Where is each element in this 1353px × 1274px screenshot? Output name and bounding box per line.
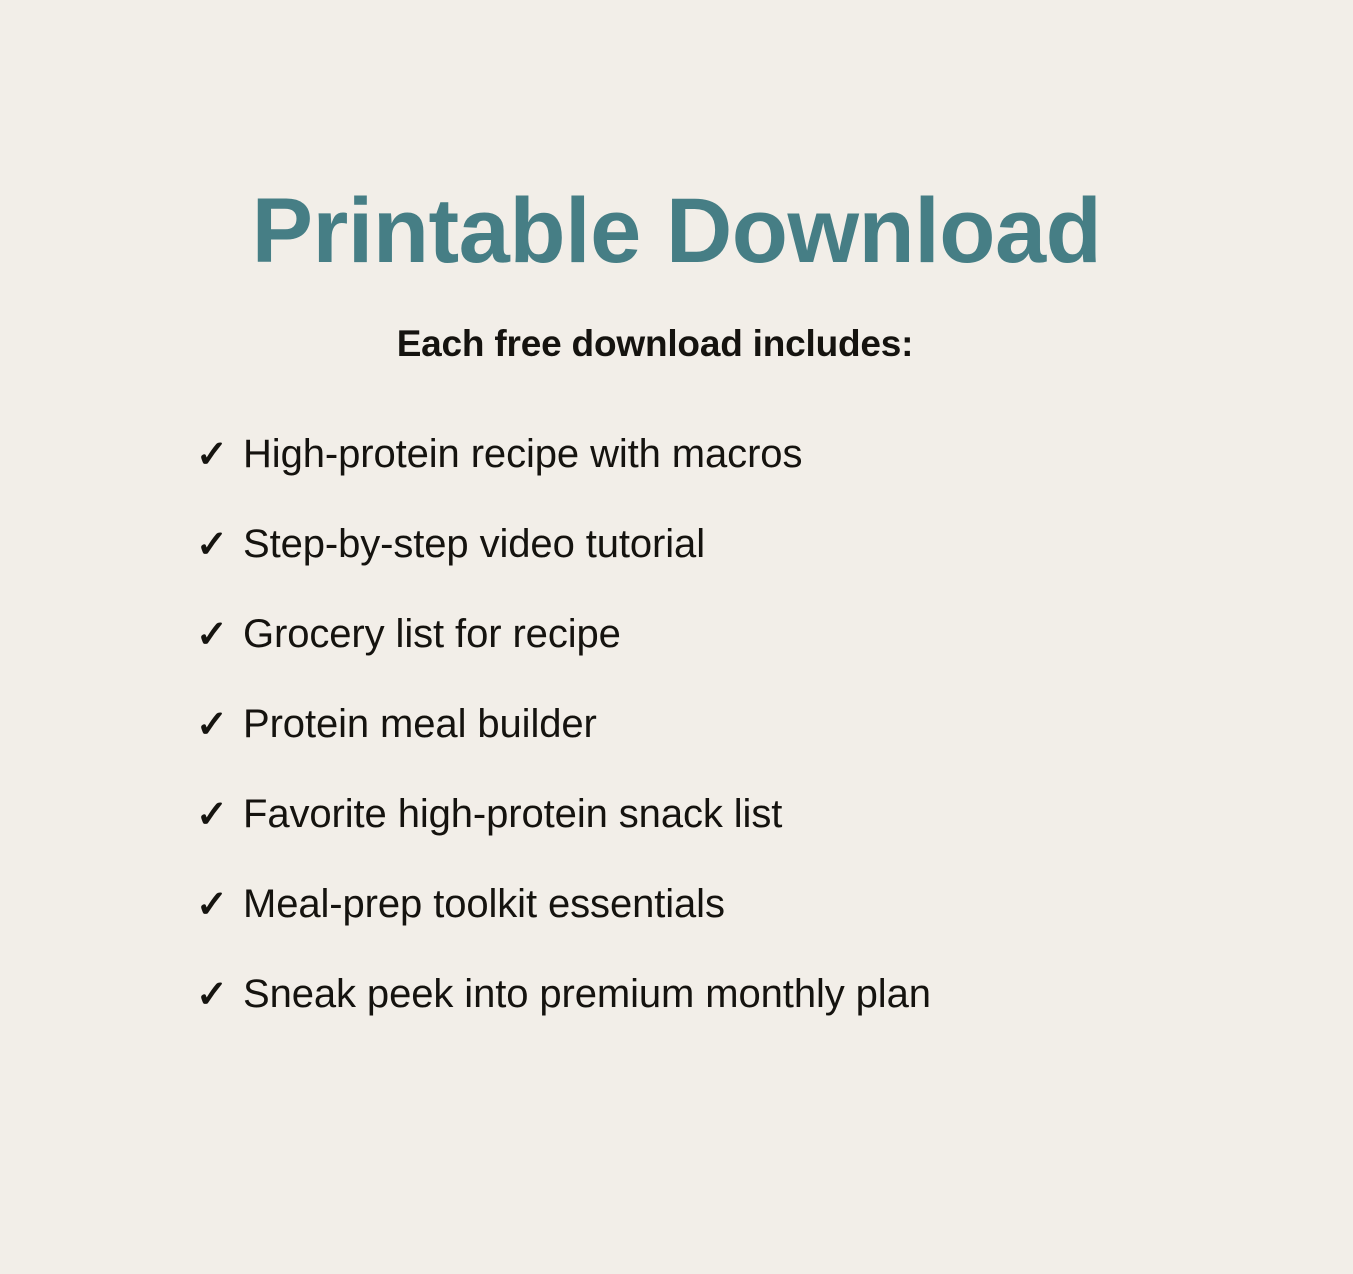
page-title: Printable Download — [0, 185, 1353, 277]
list-item-label: Grocery list for recipe — [243, 614, 621, 654]
list-item: ✓ Grocery list for recipe — [196, 614, 1196, 704]
check-icon: ✓ — [196, 706, 243, 744]
check-icon: ✓ — [196, 616, 243, 654]
check-icon: ✓ — [196, 886, 243, 924]
included-features-list: ✓ High-protein recipe with macros ✓ Step… — [196, 434, 1196, 1064]
check-icon: ✓ — [196, 526, 243, 564]
check-icon: ✓ — [196, 796, 243, 834]
list-item-label: High-protein recipe with macros — [243, 434, 802, 474]
check-icon: ✓ — [196, 436, 243, 474]
list-item-label: Sneak peek into premium monthly plan — [243, 974, 931, 1014]
list-item: ✓ Favorite high-protein snack list — [196, 794, 1196, 884]
list-item: ✓ Meal-prep toolkit essentials — [196, 884, 1196, 974]
list-item: ✓ Protein meal builder — [196, 704, 1196, 794]
list-item: ✓ Sneak peek into premium monthly plan — [196, 974, 1196, 1064]
list-item-label: Protein meal builder — [243, 704, 597, 744]
list-item-label: Favorite high-protein snack list — [243, 794, 782, 834]
check-icon: ✓ — [196, 976, 243, 1014]
printable-download-page: Printable Download Each free download in… — [0, 0, 1353, 1274]
list-item: ✓ Step-by-step video tutorial — [196, 524, 1196, 614]
list-item-label: Step-by-step video tutorial — [243, 524, 705, 564]
list-item-label: Meal-prep toolkit essentials — [243, 884, 725, 924]
list-item: ✓ High-protein recipe with macros — [196, 434, 1196, 524]
subtitle-heading: Each free download includes: — [0, 325, 1310, 362]
